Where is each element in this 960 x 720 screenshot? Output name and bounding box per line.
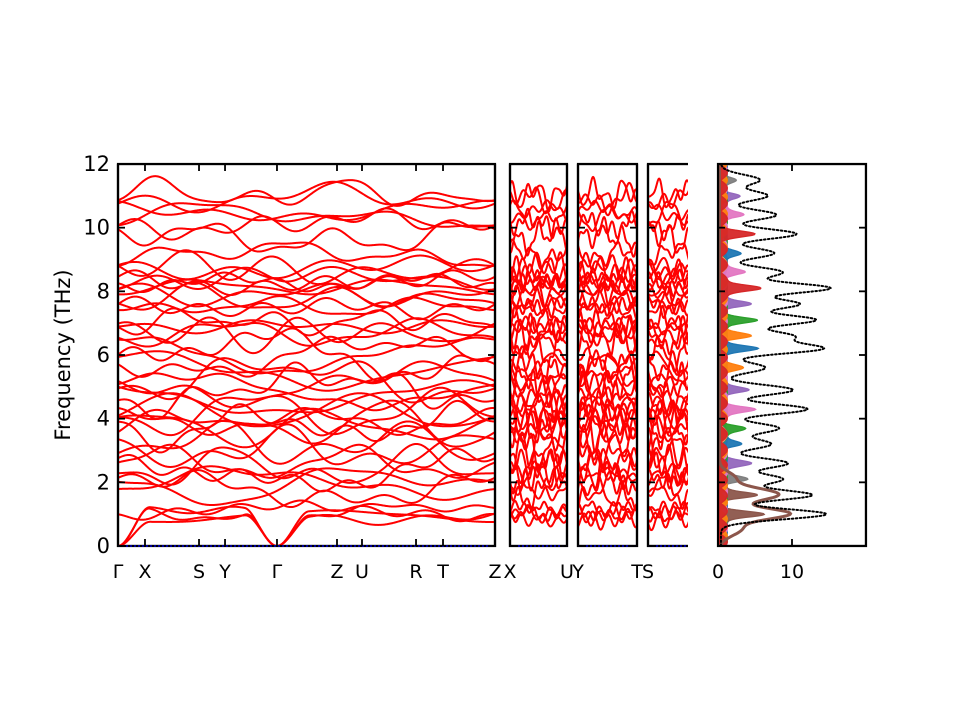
panel-3: YT (571, 0, 643, 720)
x-tick-label: Y (218, 561, 231, 583)
dos-panel: 010 (688, 0, 960, 720)
x-tick-label: X (503, 561, 516, 583)
panel-2-mask-top (508, 0, 569, 164)
panel-1: ΓXSYΓZURTZ (113, 0, 502, 720)
plot-canvas: ΓXSYΓZURTZXUYTSR024681012Frequency (THz)… (0, 0, 960, 720)
x-tick-label: X (138, 561, 151, 583)
x-tick-label: Z (488, 561, 501, 583)
dos-frame (718, 164, 866, 546)
x-tick-label: Γ (272, 561, 283, 583)
x-tick-label: S (642, 561, 654, 583)
dos-x-tick-label: 0 (712, 561, 724, 583)
panel-2: XU (503, 0, 573, 720)
x-tick-label: Z (330, 561, 343, 583)
y-tick-label: 2 (97, 470, 110, 494)
x-tick-label: S (193, 561, 205, 583)
y-tick-label: 8 (97, 279, 110, 303)
y-tick-label: 12 (83, 152, 110, 176)
y-tick-label: 10 (83, 216, 110, 240)
dos-mask-top (716, 0, 868, 164)
y-axis: 024681012Frequency (THz) (51, 152, 110, 558)
dos-x-tick-label: 10 (780, 561, 804, 583)
y-axis-title: Frequency (THz) (51, 269, 75, 440)
x-tick-label: R (409, 561, 422, 583)
y-tick-label: 4 (97, 407, 110, 431)
dos-mask-right (866, 0, 960, 720)
panel-3-mask-bottom (576, 547, 639, 720)
x-tick-label: Y (571, 561, 584, 583)
x-tick-label: U (355, 561, 369, 583)
y-tick-label: 6 (97, 343, 110, 367)
panel-1-mask-top (116, 0, 497, 164)
dos-mask-left (688, 0, 718, 720)
x-tick-label: T (436, 561, 449, 583)
phonon-figure: ΓXSYΓZURTZXUYTSR024681012Frequency (THz)… (0, 0, 960, 720)
x-tick-label: Γ (113, 561, 124, 583)
y-tick-label: 0 (97, 534, 110, 558)
panel-3-mask-top (576, 0, 639, 164)
